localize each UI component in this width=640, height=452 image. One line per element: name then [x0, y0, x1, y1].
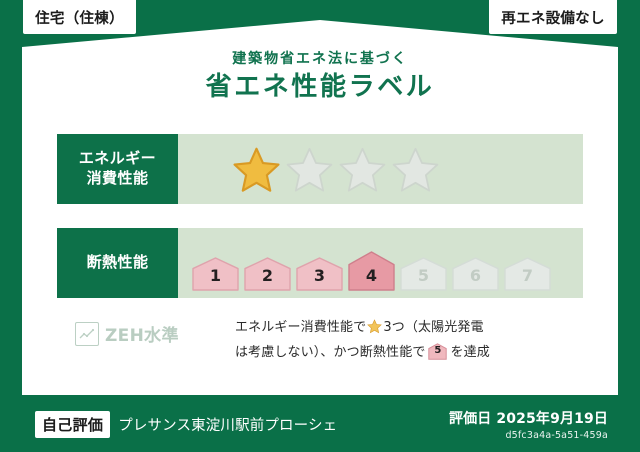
- evaluation-date-label: 評価日: [449, 411, 491, 427]
- insulation-level-badge-active: 2: [244, 257, 291, 291]
- tab-renewable-equipment: 再エネ設備なし: [489, 0, 617, 34]
- evaluation-id: d5fc3a4a-5a51-459a: [449, 430, 608, 441]
- footer-bar: 自己評価 プレサンス東淀川駅前プローシェ 評価日 2025年9月19日 d5fc…: [0, 396, 640, 452]
- insulation-level-badge-active: 3: [296, 257, 343, 291]
- insulation-level-badge-active: 4: [348, 251, 395, 291]
- zeh-description: エネルギー消費性能で 3つ（太陽光発電 は考慮しない）、かつ断熱性能で 5 を達…: [235, 313, 490, 365]
- inline-star-icon: [367, 319, 382, 342]
- energy-performance-label: 住宅（住棟） 再エネ設備なし 建築物省エネ法に基づく 省エネ性能ラベル エネルギ…: [0, 0, 640, 452]
- star-icon-empty: [339, 146, 386, 193]
- inline-house-badge-number: 5: [428, 342, 447, 359]
- zeh-standard-block: ZEH水準 エネルギー消費性能で 3つ（太陽光発電 は考慮しない）、かつ断熱性能…: [57, 313, 583, 375]
- row-energy-performance-label-line1: エネルギー: [79, 149, 156, 169]
- zeh-description-part1: エネルギー消費性能で: [235, 320, 366, 335]
- title-block: 建築物省エネ法に基づく 省エネ性能ラベル: [0, 52, 640, 103]
- evaluation-meta: 評価日 2025年9月19日 d5fc3a4a-5a51-459a: [449, 408, 608, 441]
- row-insulation-performance-value: 1234567: [178, 228, 583, 298]
- zeh-description-star-count: 3つ（太陽光発電: [383, 320, 483, 335]
- insulation-level-scale: 1234567: [192, 235, 551, 291]
- self-evaluation-badge: 自己評価: [35, 411, 110, 438]
- star-icon-filled: [233, 146, 280, 193]
- row-energy-performance-label: エネルギー 消費性能: [57, 134, 178, 204]
- tab-renewable-equipment-label: 再エネ設備なし: [501, 7, 605, 28]
- evaluation-date: 評価日 2025年9月19日: [449, 408, 608, 428]
- tab-building-type-label: 住宅（住棟）: [35, 7, 124, 28]
- tab-building-type: 住宅（住棟）: [23, 0, 136, 34]
- page-title: 省エネ性能ラベル: [0, 73, 640, 103]
- zeh-badge: ZEH水準: [57, 313, 235, 346]
- star-rating: [233, 146, 439, 193]
- evaluation-date-value: 2025年9月19日: [496, 411, 608, 427]
- zeh-chart-icon: [75, 322, 99, 346]
- insulation-level-badge-inactive: 6: [452, 257, 499, 291]
- zeh-badge-label: ZEH水準: [105, 321, 179, 346]
- title-subtitle: 建築物省エネ法に基づく: [0, 52, 640, 67]
- inline-house-badge: 5: [428, 343, 447, 360]
- zeh-description-part2: は考慮しない）、かつ断熱性能で: [235, 345, 425, 360]
- row-energy-performance: エネルギー 消費性能: [57, 134, 583, 204]
- building-name: プレサンス東淀川駅前プローシェ: [118, 414, 337, 435]
- row-insulation-performance-label-line1: 断熱性能: [87, 253, 149, 273]
- star-icon-empty: [286, 146, 333, 193]
- row-insulation-performance-label: 断熱性能: [57, 228, 178, 298]
- insulation-level-badge-inactive: 7: [504, 257, 551, 291]
- insulation-level-badge-inactive: 5: [400, 257, 447, 291]
- star-icon-empty: [392, 146, 439, 193]
- zeh-description-part3: を達成: [450, 345, 489, 360]
- row-energy-performance-label-line2: 消費性能: [87, 169, 149, 189]
- row-insulation-performance: 断熱性能 1234567: [57, 228, 583, 298]
- row-energy-performance-value: [178, 134, 583, 204]
- insulation-level-badge-active: 1: [192, 257, 239, 291]
